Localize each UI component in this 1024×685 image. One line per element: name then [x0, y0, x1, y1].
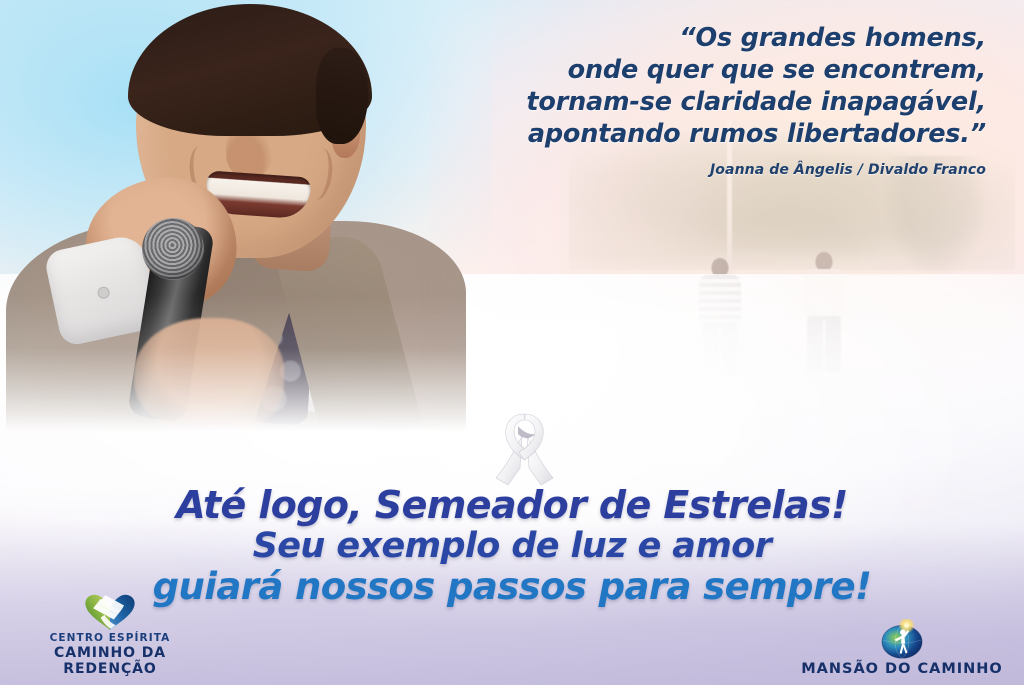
hands-heart-icon [10, 592, 210, 632]
white-ribbon-icon [486, 406, 562, 486]
portrait-hair [128, 4, 372, 136]
portrait-divaldo-franco [0, 0, 470, 436]
quote-line-1: “Os grandes homens, [426, 22, 986, 54]
logo-centro-espirita: CENTRO ESPÍRITA CAMINHO DA REDENÇÃO [10, 592, 210, 677]
headline-line-1: Até logo, Semeador de Estrelas! [0, 484, 1024, 526]
logo-right-line-2: MANSÃO DO CAMINHO [792, 661, 1012, 677]
quote-line-2: onde quer que se encontrem, [426, 54, 986, 86]
logo-left-line-2: CAMINHO DA REDENÇÃO [10, 645, 210, 677]
headline-block: Até logo, Semeador de Estrelas! Seu exem… [0, 484, 1024, 608]
portrait-lower-hand [134, 318, 284, 434]
headline-line-2: Seu exemplo de luz e amor [0, 526, 1024, 566]
quote-line-3: tornam-se claridade inapagável, [426, 86, 986, 118]
quote-block: “Os grandes homens, onde quer que se enc… [426, 22, 986, 178]
quote-attribution: Joanna de Ângelis / Divaldo Franco [426, 162, 986, 178]
globe-figure-icon [792, 621, 1012, 661]
logo-left-line-1: CENTRO ESPÍRITA [10, 632, 210, 645]
logo-mansao-do-caminho: MANSÃO DO CAMINHO [792, 621, 1012, 677]
memorial-poster: “Os grandes homens, onde quer que se enc… [0, 0, 1024, 685]
quote-line-4: apontando rumos libertadores.” [426, 118, 986, 150]
